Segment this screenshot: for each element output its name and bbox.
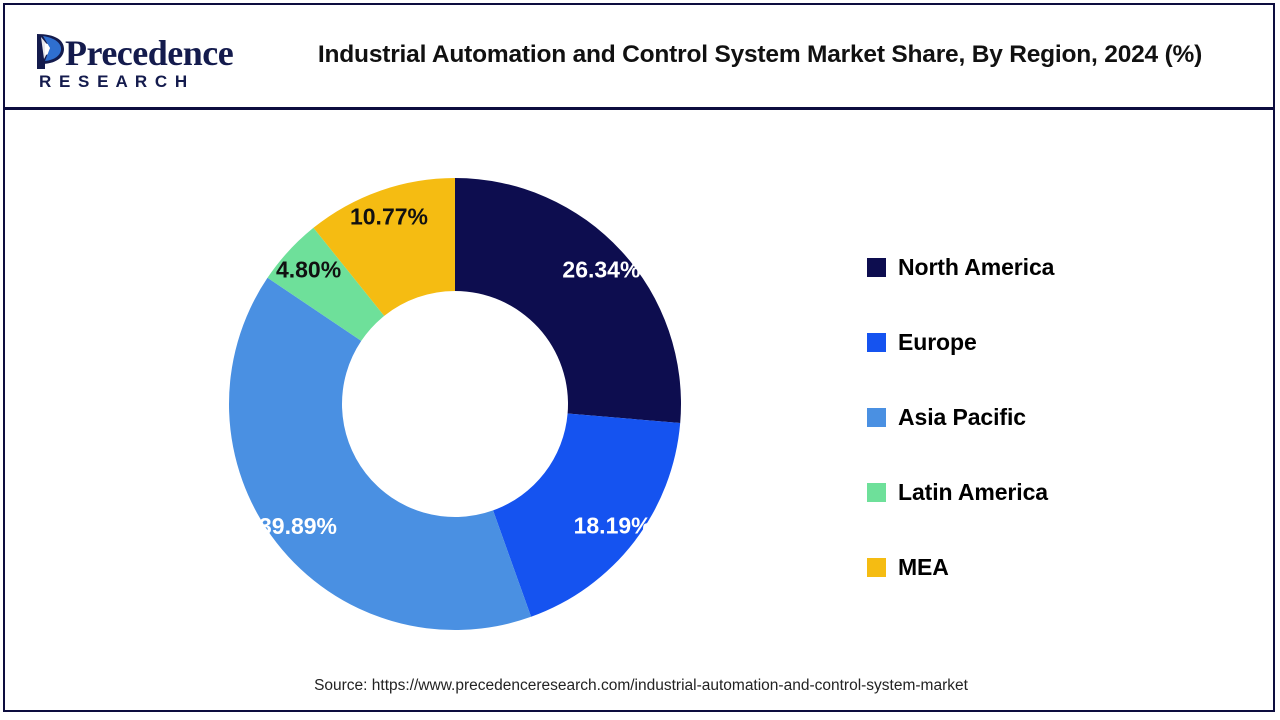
donut-slice-label: 26.34% <box>562 256 640 282</box>
chart-page: Precedence R E S E A R C H Industrial Au… <box>0 0 1280 720</box>
donut-slice[interactable] <box>455 178 681 423</box>
logo-wordmark: Precedence <box>65 33 234 73</box>
donut-slice-label: 18.19% <box>574 512 652 538</box>
legend-item-latin-america[interactable]: Latin America <box>867 455 1197 530</box>
chart-frame: Precedence R E S E A R C H Industrial Au… <box>3 3 1275 712</box>
legend-item-europe[interactable]: Europe <box>867 305 1197 380</box>
legend-swatch-north-america <box>867 258 886 277</box>
legend-item-asia-pacific[interactable]: Asia Pacific <box>867 380 1197 455</box>
donut-slice-label: 10.77% <box>350 203 428 229</box>
logo-subtext: R E S E A R C H <box>39 72 189 91</box>
logo-svg: Precedence R E S E A R C H <box>17 25 247 93</box>
legend-item-north-america[interactable]: North America <box>867 230 1197 305</box>
donut-chart-area: 26.34%18.19%39.89%4.80%10.77% <box>5 110 765 655</box>
legend-label-mea: MEA <box>898 554 949 581</box>
chart-title: Industrial Automation and Control System… <box>255 41 1265 69</box>
legend-swatch-mea <box>867 558 886 577</box>
header-bar: Precedence R E S E A R C H Industrial Au… <box>5 5 1273 110</box>
legend-swatch-europe <box>867 333 886 352</box>
legend-item-mea[interactable]: MEA <box>867 530 1197 605</box>
source-caption: Source: https://www.precedenceresearch.c… <box>5 677 1277 695</box>
legend: North America Europe Asia Pacific Latin … <box>867 230 1197 605</box>
donut-slice[interactable] <box>229 278 531 630</box>
legend-label-europe: Europe <box>898 329 977 356</box>
legend-swatch-asia-pacific <box>867 408 886 427</box>
legend-label-asia-pacific: Asia Pacific <box>898 404 1026 431</box>
donut-slice-label: 39.89% <box>259 513 337 539</box>
legend-label-north-america: North America <box>898 254 1054 281</box>
legend-label-latin-america: Latin America <box>898 479 1048 506</box>
logo-leaf-icon <box>37 34 64 69</box>
legend-swatch-latin-america <box>867 483 886 502</box>
donut-slice-label: 4.80% <box>276 256 341 282</box>
precedence-research-logo: Precedence R E S E A R C H <box>17 25 247 93</box>
donut-chart: 26.34%18.19%39.89%4.80%10.77% <box>5 110 765 655</box>
